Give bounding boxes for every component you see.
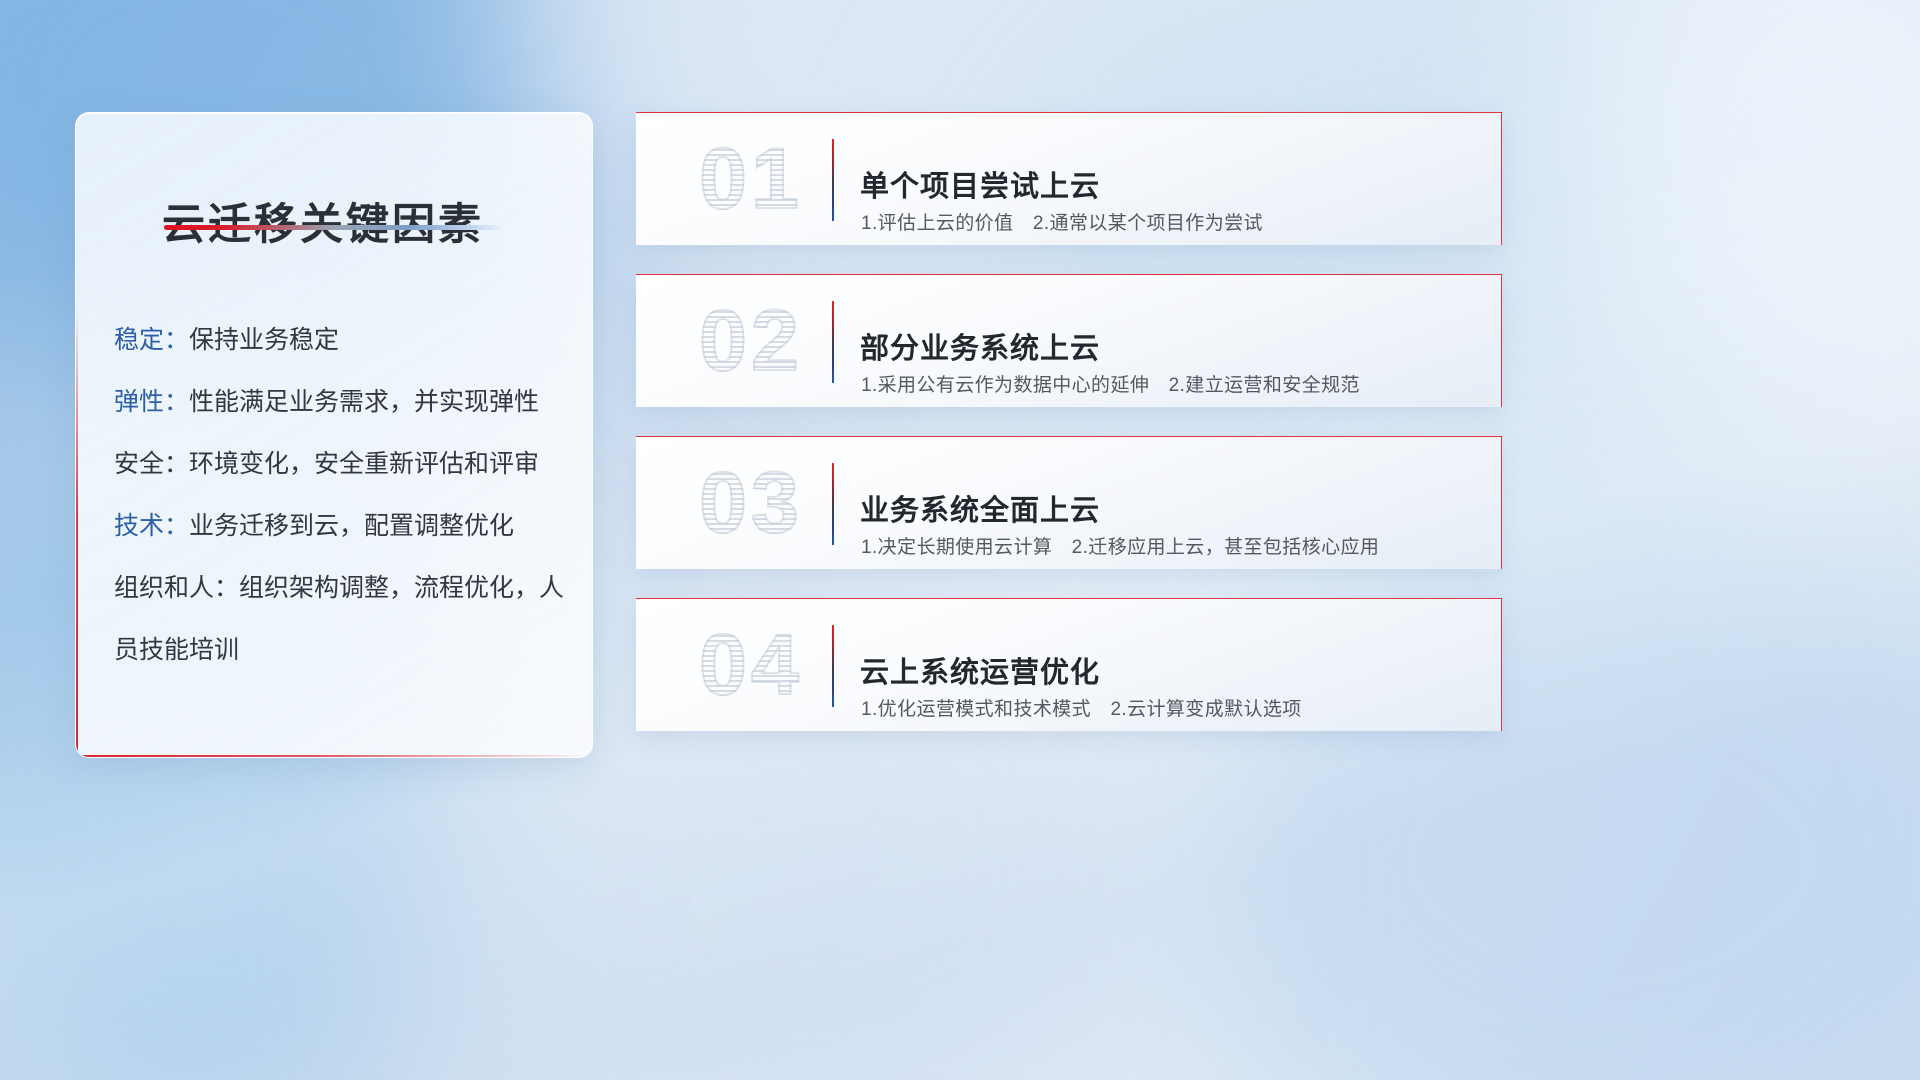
stage-divider-bar bbox=[832, 139, 834, 221]
factor-key: 稳定： bbox=[114, 326, 189, 354]
factor-item-elasticity: 弹性：性能满足业务需求，并实现弹性 bbox=[106, 371, 574, 433]
stage-number: 03 bbox=[661, 443, 841, 563]
stage-divider-bar bbox=[832, 625, 834, 707]
factor-item-security: 安全：环境变化，安全重新评估和评审 bbox=[106, 433, 574, 495]
stage-card-03[interactable]: 03 业务系统全面上云 1.决定长期使用云计算 2.迁移应用上云，甚至包括核心应… bbox=[636, 436, 1502, 569]
stage-number: 02 bbox=[661, 281, 841, 401]
factor-key: 安全： bbox=[114, 450, 189, 478]
page-title: 云迁移关键因素 bbox=[162, 190, 484, 252]
stage-description: 1.决定长期使用云计算 2.迁移应用上云，甚至包括核心应用 bbox=[861, 532, 1379, 559]
stage-description: 1.优化运营模式和技术模式 2.云计算变成默认选项 bbox=[861, 694, 1302, 721]
stage-number: 04 bbox=[661, 605, 841, 725]
migration-stage-cards: 01 单个项目尝试上云 1.评估上云的价值 2.通常以某个项目作为尝试 02 部… bbox=[636, 112, 1502, 760]
factor-value: 环境变化，安全重新评估和评审 bbox=[189, 450, 539, 478]
factor-list: 稳定：保持业务稳定 弹性：性能满足业务需求，并实现弹性 安全：环境变化，安全重新… bbox=[106, 309, 574, 681]
factor-value: 保持业务稳定 bbox=[189, 326, 339, 354]
title-underline-rule bbox=[164, 225, 504, 230]
stage-title: 单个项目尝试上云 bbox=[860, 163, 1100, 205]
stage-title: 部分业务系统上云 bbox=[860, 325, 1100, 367]
factor-item-stability: 稳定：保持业务稳定 bbox=[106, 309, 574, 371]
factor-value: 业务迁移到云，配置调整优化 bbox=[189, 512, 514, 540]
factor-item-technology: 技术：业务迁移到云，配置调整优化 bbox=[106, 495, 574, 557]
stage-description: 1.采用公有云作为数据中心的延伸 2.建立运营和安全规范 bbox=[861, 370, 1360, 397]
stage-card-04[interactable]: 04 云上系统运营优化 1.优化运营模式和技术模式 2.云计算变成默认选项 bbox=[636, 598, 1502, 731]
factor-key: 技术： bbox=[114, 512, 189, 540]
stage-description: 1.评估上云的价值 2.通常以某个项目作为尝试 bbox=[861, 208, 1263, 235]
stage-title: 业务系统全面上云 bbox=[860, 487, 1100, 529]
factor-key: 组织和人： bbox=[114, 574, 239, 602]
stage-title: 云上系统运营优化 bbox=[860, 649, 1100, 691]
stage-number: 01 bbox=[661, 119, 841, 239]
factor-key: 弹性： bbox=[114, 388, 189, 416]
stage-divider-bar bbox=[832, 301, 834, 383]
factor-value: 性能满足业务需求，并实现弹性 bbox=[189, 388, 539, 416]
key-factors-panel: 云迁移关键因素 稳定：保持业务稳定 弹性：性能满足业务需求，并实现弹性 安全：环… bbox=[75, 112, 593, 758]
factor-item-organization-people: 组织和人：组织架构调整，流程优化，人员技能培训 bbox=[106, 557, 574, 681]
stage-card-02[interactable]: 02 部分业务系统上云 1.采用公有云作为数据中心的延伸 2.建立运营和安全规范 bbox=[636, 274, 1502, 407]
stage-divider-bar bbox=[832, 463, 834, 545]
stage-card-01[interactable]: 01 单个项目尝试上云 1.评估上云的价值 2.通常以某个项目作为尝试 bbox=[636, 112, 1502, 245]
